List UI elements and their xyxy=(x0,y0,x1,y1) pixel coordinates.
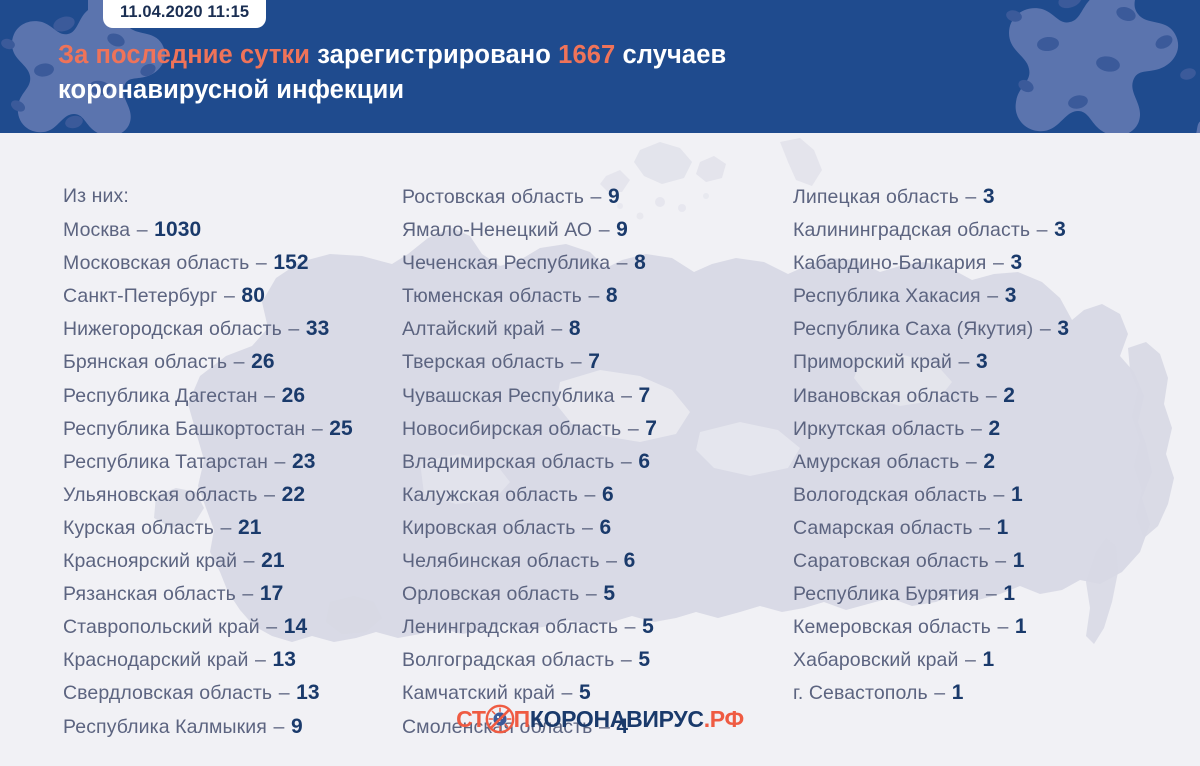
region-row: Тюменская область – 8 xyxy=(402,279,780,312)
region-dash: – xyxy=(959,451,983,473)
region-name: Хабаровский край xyxy=(793,649,958,671)
region-value: 8 xyxy=(634,251,646,274)
region-row: Москва – 1030 xyxy=(63,213,390,246)
region-row: Челябинская область – 6 xyxy=(402,544,780,577)
region-dash: – xyxy=(564,351,588,373)
region-row: Кировская область – 6 xyxy=(402,511,780,544)
region-name: Челябинская область xyxy=(402,550,600,572)
region-dash: – xyxy=(576,517,600,539)
region-row: Рязанская область – 17 xyxy=(63,577,390,610)
region-dash: – xyxy=(282,318,306,340)
region-row: Республика Саха (Якутия) – 3 xyxy=(793,312,1200,345)
region-name: Липецкая область xyxy=(793,186,959,208)
region-row: Хабаровский край – 1 xyxy=(793,643,1200,676)
region-row: Курская область – 21 xyxy=(63,511,390,544)
regions-list: Из них: Москва – 1030Московская область … xyxy=(0,180,1200,743)
region-value: 1 xyxy=(997,516,1009,539)
region-dash: – xyxy=(545,318,569,340)
region-name: Ивановская область xyxy=(793,385,979,407)
region-row: Амурская область – 2 xyxy=(793,445,1200,478)
region-row: Республика Башкортостан – 25 xyxy=(63,412,390,445)
region-value: 6 xyxy=(624,549,636,572)
region-dash: – xyxy=(989,550,1013,572)
region-dash: – xyxy=(986,252,1010,274)
region-value: 1 xyxy=(1013,549,1025,572)
region-name: Новосибирская область xyxy=(402,418,621,440)
region-row: Ульяновская область – 22 xyxy=(63,478,390,511)
region-value: 3 xyxy=(1054,218,1066,241)
region-value: 3 xyxy=(1010,251,1022,274)
region-value: 26 xyxy=(251,350,275,373)
region-name: Рязанская область xyxy=(63,583,236,605)
region-dash: – xyxy=(555,682,579,704)
region-value: 6 xyxy=(600,516,612,539)
region-name: Санкт-Петербург xyxy=(63,285,217,307)
region-value: 17 xyxy=(260,582,284,605)
region-value: 14 xyxy=(284,615,308,638)
region-value: 1030 xyxy=(154,218,201,241)
region-name: г. Севастополь xyxy=(793,682,928,704)
logo-text-ct: СТ xyxy=(456,708,486,731)
region-dash: – xyxy=(959,186,983,208)
region-name: Москва xyxy=(63,219,130,241)
region-dash: – xyxy=(1033,318,1057,340)
region-value: 5 xyxy=(579,681,591,704)
region-row: Республика Бурятия – 1 xyxy=(793,577,1200,610)
region-name: Ростовская область xyxy=(402,186,584,208)
region-value: 21 xyxy=(238,516,262,539)
region-name: Амурская область xyxy=(793,451,959,473)
region-name: Вологодская область xyxy=(793,484,987,506)
region-row: Краснодарский край – 13 xyxy=(63,643,390,676)
region-row: Ростовская область – 9 xyxy=(402,180,780,213)
region-value: 33 xyxy=(306,317,330,340)
region-dash: – xyxy=(614,451,638,473)
stopkoronavirus-logo[interactable]: СТ xyxy=(0,704,1200,734)
region-row: Липецкая область – 3 xyxy=(793,180,1200,213)
region-row: Республика Дагестан – 26 xyxy=(63,379,390,412)
region-value: 1 xyxy=(1003,582,1015,605)
region-dash: – xyxy=(981,285,1005,307)
region-value: 5 xyxy=(642,615,654,638)
region-row: Калининградская область – 3 xyxy=(793,213,1200,246)
region-name: Кировская область xyxy=(402,517,576,539)
region-dash: – xyxy=(248,649,272,671)
region-name: Краснодарский край xyxy=(63,649,248,671)
region-value: 6 xyxy=(638,450,650,473)
region-dash: – xyxy=(987,484,1011,506)
region-value: 152 xyxy=(273,251,308,274)
region-dash: – xyxy=(621,418,645,440)
infographic-poster: 11.04.2020 11:15 За последние сутки заре… xyxy=(0,0,1200,766)
region-row: Самарская область – 1 xyxy=(793,511,1200,544)
region-value: 22 xyxy=(282,483,306,506)
region-name: Иркутская область xyxy=(793,418,965,440)
region-name: Алтайский край xyxy=(402,318,545,340)
region-value: 2 xyxy=(1003,384,1015,407)
region-value: 21 xyxy=(261,549,285,572)
region-row: Республика Хакасия – 3 xyxy=(793,279,1200,312)
region-value: 1 xyxy=(982,648,994,671)
region-dash: – xyxy=(268,451,292,473)
headline-case-count: 1667 xyxy=(558,41,615,69)
region-dash: – xyxy=(973,517,997,539)
region-name: Красноярский край xyxy=(63,550,237,572)
headline-accent: За последние сутки xyxy=(58,41,310,69)
region-dash: – xyxy=(592,219,616,241)
region-row: Иркутская область – 2 xyxy=(793,412,1200,445)
region-dash: – xyxy=(584,186,608,208)
region-value: 1 xyxy=(952,681,964,704)
region-name: Чеченская Республика xyxy=(402,252,610,274)
region-row: Нижегородская область – 33 xyxy=(63,312,390,345)
region-row: Вологодская область – 1 xyxy=(793,478,1200,511)
headline-line-1: За последние сутки зарегистрировано 1667… xyxy=(58,38,1058,73)
region-dash: – xyxy=(237,550,261,572)
region-dash: – xyxy=(578,484,602,506)
regions-column-1: Из них: Москва – 1030Московская область … xyxy=(0,180,390,743)
region-value: 7 xyxy=(588,350,600,373)
region-dash: – xyxy=(928,682,952,704)
region-value: 9 xyxy=(608,185,620,208)
region-name: Чувашская Республика xyxy=(402,385,615,407)
header-band: 11.04.2020 11:15 За последние сутки заре… xyxy=(0,0,1200,133)
region-value: 2 xyxy=(983,450,995,473)
region-name: Курская область xyxy=(63,517,214,539)
date-badge: 11.04.2020 11:15 xyxy=(103,0,266,28)
region-name: Кабардино-Балкария xyxy=(793,252,986,274)
region-row: Чеченская Республика – 8 xyxy=(402,246,780,279)
headline-tail: случаев xyxy=(615,41,726,69)
region-row: Саратовская область – 1 xyxy=(793,544,1200,577)
region-name: Брянская область xyxy=(63,351,227,373)
region-name: Республика Дагестан xyxy=(63,385,258,407)
region-name: Московская область xyxy=(63,252,249,274)
region-dash: – xyxy=(958,649,982,671)
region-name: Камчатский край xyxy=(402,682,555,704)
region-value: 6 xyxy=(602,483,614,506)
region-row: Ставропольский край – 14 xyxy=(63,610,390,643)
region-row: Волгоградская область – 5 xyxy=(402,643,780,676)
region-value: 5 xyxy=(638,648,650,671)
region-dash: – xyxy=(965,418,989,440)
headline-line-2: коронавирусной инфекции xyxy=(58,73,1058,108)
region-name: Приморский край xyxy=(793,351,952,373)
region-row: Орловская область – 5 xyxy=(402,577,780,610)
region-dash: – xyxy=(979,385,1003,407)
region-dash: – xyxy=(305,418,329,440)
region-dash: – xyxy=(236,583,260,605)
region-dash: – xyxy=(600,550,624,572)
region-row: Московская область – 152 xyxy=(63,246,390,279)
region-row: Чувашская Республика – 7 xyxy=(402,379,780,412)
region-name: Ульяновская область xyxy=(63,484,258,506)
region-row: Новосибирская область – 7 xyxy=(402,412,780,445)
region-name: Саратовская область xyxy=(793,550,989,572)
region-value: 23 xyxy=(292,450,316,473)
region-name: Калужская область xyxy=(402,484,578,506)
region-dash: – xyxy=(217,285,241,307)
region-name: Республика Бурятия xyxy=(793,583,979,605)
region-row: Ленинградская область – 5 xyxy=(402,610,780,643)
regions-column-3: Липецкая область – 3Калининградская обла… xyxy=(780,180,1200,743)
region-row: Республика Татарстан – 23 xyxy=(63,445,390,478)
region-value: 13 xyxy=(272,648,296,671)
region-dash: – xyxy=(227,351,251,373)
region-name: Республика Саха (Якутия) xyxy=(793,318,1033,340)
region-row: Кемеровская область – 1 xyxy=(793,610,1200,643)
region-name: Калининградская область xyxy=(793,219,1030,241)
region-row: Тверская область – 7 xyxy=(402,345,780,378)
region-row: Кабардино-Балкария – 3 xyxy=(793,246,1200,279)
region-dash: – xyxy=(249,252,273,274)
region-value: 1 xyxy=(1015,615,1027,638)
region-name: Республика Татарстан xyxy=(63,451,268,473)
region-row: Владимирская область – 6 xyxy=(402,445,780,478)
region-name: Тюменская область xyxy=(402,285,582,307)
region-row: Калужская область – 6 xyxy=(402,478,780,511)
region-row: Красноярский край – 21 xyxy=(63,544,390,577)
region-name: Владимирская область xyxy=(402,451,614,473)
region-value: 25 xyxy=(329,417,353,440)
region-name: Орловская область xyxy=(402,583,579,605)
region-name: Ставропольский край xyxy=(63,616,260,638)
region-value: 1 xyxy=(1011,483,1023,506)
region-dash: – xyxy=(130,219,154,241)
region-value: 3 xyxy=(1005,284,1017,307)
region-value: 13 xyxy=(296,681,320,704)
region-value: 3 xyxy=(976,350,988,373)
region-value: 9 xyxy=(616,218,628,241)
region-dash: – xyxy=(582,285,606,307)
region-name: Тверская область xyxy=(402,351,564,373)
region-dash: – xyxy=(618,616,642,638)
regions-column-2: Ростовская область – 9Ямало-Ненецкий АО … xyxy=(390,180,780,743)
region-value: 8 xyxy=(569,317,581,340)
region-value: 7 xyxy=(639,384,651,407)
region-name: Ямало-Ненецкий АО xyxy=(402,219,592,241)
region-name: Республика Башкортостан xyxy=(63,418,305,440)
region-name: Свердловская область xyxy=(63,682,272,704)
region-dash: – xyxy=(260,616,284,638)
region-value: 3 xyxy=(983,185,995,208)
logo-text-main: КОРОНАВИРУС xyxy=(530,708,704,731)
region-dash: – xyxy=(1030,219,1054,241)
region-value: 5 xyxy=(603,582,615,605)
region-dash: – xyxy=(614,649,638,671)
region-dash: – xyxy=(991,616,1015,638)
region-name: Волгоградская область xyxy=(402,649,614,671)
region-row: Брянская область – 26 xyxy=(63,345,390,378)
region-dash: – xyxy=(952,351,976,373)
region-name: Ленинградская область xyxy=(402,616,618,638)
region-dash: – xyxy=(610,252,634,274)
region-row: Ямало-Ненецкий АО – 9 xyxy=(402,213,780,246)
region-dash: – xyxy=(979,583,1003,605)
virus-stop-icon xyxy=(485,704,515,734)
region-row: Алтайский край – 8 xyxy=(402,312,780,345)
region-row: Санкт-Петербург – 80 xyxy=(63,279,390,312)
region-value: 2 xyxy=(989,417,1001,440)
region-row: Ивановская область – 2 xyxy=(793,379,1200,412)
headline-mid: зарегистрировано xyxy=(310,41,558,69)
page-title: За последние сутки зарегистрировано 1667… xyxy=(58,38,1058,108)
region-name: Республика Хакасия xyxy=(793,285,981,307)
region-row: Приморский край – 3 xyxy=(793,345,1200,378)
region-dash: – xyxy=(258,385,282,407)
list-intro: Из них: xyxy=(63,180,390,213)
region-dash: – xyxy=(579,583,603,605)
region-value: 80 xyxy=(241,284,265,307)
region-dash: – xyxy=(615,385,639,407)
region-dash: – xyxy=(272,682,296,704)
region-name: Самарская область xyxy=(793,517,973,539)
region-dash: – xyxy=(214,517,238,539)
logo-text-rf: .РФ xyxy=(704,708,744,731)
region-name: Кемеровская область xyxy=(793,616,991,638)
region-value: 8 xyxy=(606,284,618,307)
logo-text-p: П xyxy=(514,708,530,731)
region-value: 7 xyxy=(645,417,657,440)
region-value: 26 xyxy=(282,384,306,407)
region-name: Нижегородская область xyxy=(63,318,282,340)
region-value: 3 xyxy=(1057,317,1069,340)
region-dash: – xyxy=(258,484,282,506)
